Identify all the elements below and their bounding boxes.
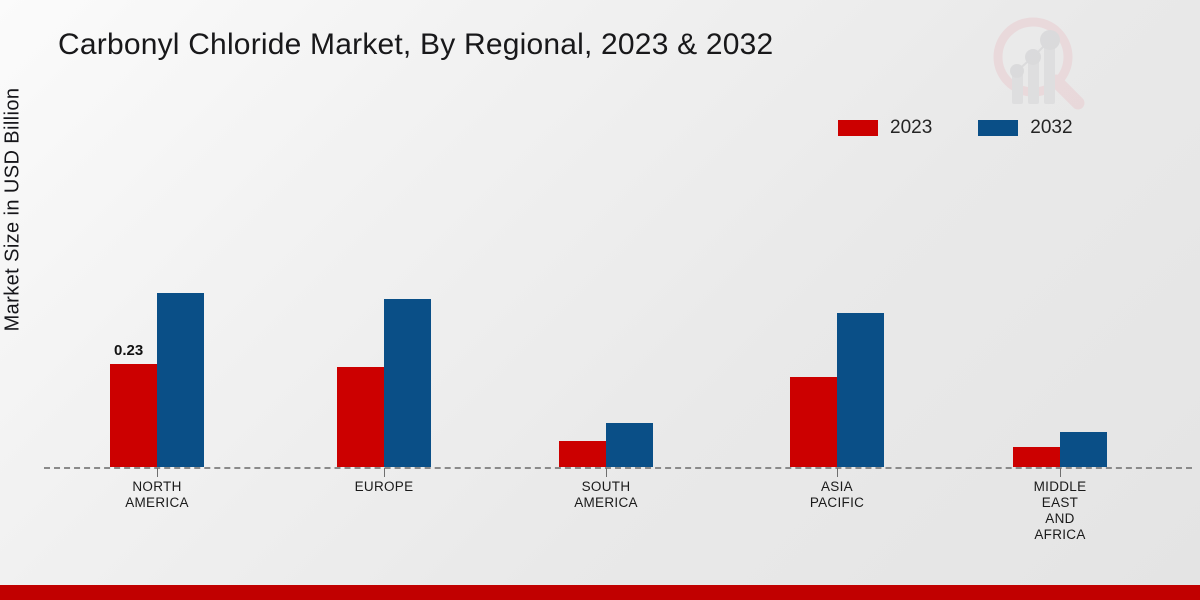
chart-legend: 2023 2032 [838, 118, 1073, 137]
axis-baseline [44, 467, 1192, 469]
bar-2023[interactable] [110, 364, 157, 467]
legend-label-2032: 2032 [1030, 118, 1072, 137]
legend-label-2023: 2023 [890, 118, 932, 137]
y-axis-title: Market Size in USD Billion [2, 45, 25, 375]
bar-group [1013, 432, 1107, 467]
bar-2023[interactable] [337, 367, 384, 467]
bar-group [337, 299, 431, 467]
legend-swatch-2032 [978, 120, 1018, 136]
plot-area [44, 150, 1194, 468]
x-axis-tick [384, 468, 385, 477]
x-axis-tick [606, 468, 607, 477]
legend-item-2023[interactable]: 2023 [838, 118, 932, 137]
chart-container: Carbonyl Chloride Market, By Regional, 2… [0, 0, 1200, 600]
x-axis-category-label: EUROPE [355, 479, 414, 495]
bar-2023[interactable] [790, 377, 837, 467]
bar-2032[interactable] [157, 293, 204, 467]
legend-item-2032[interactable]: 2032 [978, 118, 1072, 137]
footer-band [0, 585, 1200, 600]
bar-group [110, 293, 204, 467]
bar-2023[interactable] [559, 441, 606, 467]
x-axis-category-label: ASIA PACIFIC [810, 479, 864, 511]
bar-2032[interactable] [606, 423, 653, 467]
bar-value-label: 0.23 [114, 342, 143, 359]
chart-title: Carbonyl Chloride Market, By Regional, 2… [58, 28, 773, 62]
bar-2032[interactable] [837, 313, 884, 467]
bar-2023[interactable] [1013, 447, 1060, 467]
x-axis-category-label: SOUTH AMERICA [574, 479, 638, 511]
x-axis-category-label: NORTH AMERICA [125, 479, 189, 511]
legend-swatch-2023 [838, 120, 878, 136]
bar-group [790, 313, 884, 467]
bar-2032[interactable] [1060, 432, 1107, 467]
bar-group [559, 423, 653, 467]
watermark-logo-icon [982, 8, 1100, 118]
x-axis-category-label: MIDDLE EAST AND AFRICA [1034, 479, 1087, 543]
x-axis-tick [1060, 468, 1061, 477]
x-axis-tick [157, 468, 158, 477]
bar-2032[interactable] [384, 299, 431, 467]
x-axis-tick [837, 468, 838, 477]
